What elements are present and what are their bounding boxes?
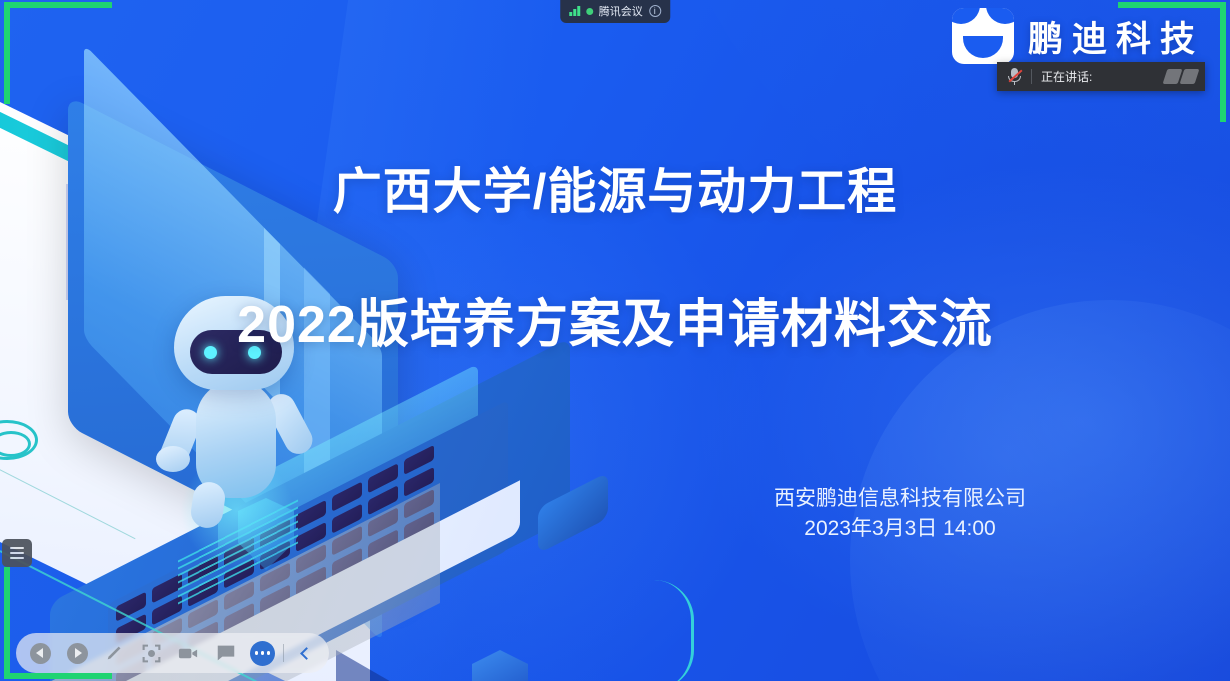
video-camera-icon xyxy=(177,642,200,665)
signal-bars-icon xyxy=(569,6,580,16)
screen-share-view: 广西大学/能源与动力工程 2022版培养方案及申请材料交流 西安鹏迪信息科技有限… xyxy=(0,0,1230,681)
online-dot-icon xyxy=(586,8,593,15)
slide-subtitle: 2022版培养方案及申请材料交流 xyxy=(0,282,1230,357)
more-button[interactable] xyxy=(244,633,281,673)
decor-wire xyxy=(624,580,694,681)
slide-datetime: 2023年3月3日 14:00 xyxy=(640,514,1160,544)
watermark-icon xyxy=(1165,69,1205,84)
slide-title: 广西大学/能源与动力工程 xyxy=(0,152,1230,223)
pen-icon xyxy=(104,642,126,664)
robot-hand xyxy=(156,446,190,472)
brand-name: 鹏迪科技 xyxy=(1028,11,1204,62)
presentation-toolbar[interactable] xyxy=(16,633,329,673)
chat-bubble-icon xyxy=(215,642,237,664)
spotlight-button[interactable] xyxy=(133,633,170,673)
hexagon-shape xyxy=(472,650,528,681)
toolbar-divider xyxy=(283,644,284,662)
chat-button[interactable] xyxy=(207,633,244,673)
company-name: 西安鹏迪信息科技有限公司 xyxy=(640,484,1160,514)
robot-body xyxy=(196,380,276,498)
list-menu-icon[interactable] xyxy=(2,539,32,567)
video-button[interactable] xyxy=(170,633,207,673)
more-dots-icon xyxy=(250,641,275,666)
focus-frame-icon xyxy=(141,643,162,664)
meeting-app-label: 腾讯会议 xyxy=(599,3,643,19)
chevron-left-icon xyxy=(300,647,313,660)
previous-circle-icon xyxy=(30,643,51,664)
next-slide-button[interactable] xyxy=(59,633,96,673)
info-circle-icon[interactable]: i xyxy=(649,5,661,17)
speaking-label: 正在讲话: xyxy=(1032,68,1165,85)
pengdi-smile-logo-icon xyxy=(952,8,1014,64)
collapse-button[interactable] xyxy=(286,633,323,673)
microphone-muted-icon[interactable] xyxy=(997,68,1031,85)
decor-triangle xyxy=(336,650,426,681)
slide-footer: 西安鹏迪信息科技有限公司 2023年3月3日 14:00 xyxy=(640,484,1160,544)
annotate-button[interactable] xyxy=(96,633,133,673)
play-circle-icon xyxy=(67,643,88,664)
speaking-indicator-bar[interactable]: 正在讲话: xyxy=(997,62,1205,91)
brand-logo: 鹏迪科技 xyxy=(952,8,1204,64)
previous-slide-button[interactable] xyxy=(22,633,59,673)
meeting-status-pill[interactable]: 腾讯会议 i xyxy=(560,0,670,23)
logo-smile-shape xyxy=(963,36,1003,58)
